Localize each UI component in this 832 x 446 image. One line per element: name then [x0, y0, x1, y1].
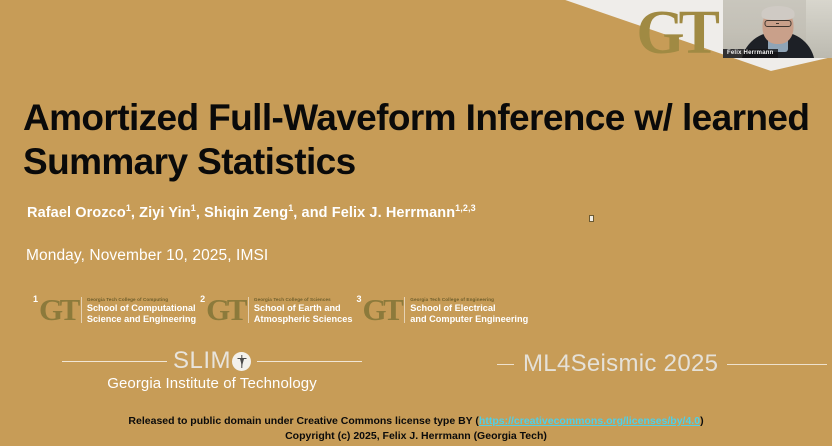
- affiliation-college-2: Georgia Tech College of Sciences: [254, 297, 353, 302]
- affiliation-item-1: 1 GT Georgia Tech College of Computing S…: [33, 294, 200, 325]
- slim-lockup: SLIM Georgia Institute of Technology: [62, 349, 362, 392]
- affiliation-item-3: 3 GT Georgia Tech College of Engineering…: [356, 294, 532, 325]
- webcam-participant-name: Felix Herrmann: [723, 49, 778, 58]
- affiliation-school-line1-2: School of Earth and: [254, 303, 353, 314]
- affiliation-school-line2-3: and Computer Engineering: [410, 314, 528, 325]
- slim-pendulum-icon: [232, 352, 251, 371]
- affiliation-college-1: Georgia Tech College of Computing: [87, 297, 196, 302]
- gt-logo-icon-2: GT: [206, 295, 244, 324]
- ml4seismic-rule-left: [497, 364, 514, 365]
- affiliation-divider-1: [81, 297, 82, 323]
- license-line-1: Released to public domain under Creative…: [0, 414, 832, 429]
- date-venue: Monday, November 10, 2025, IMSI: [26, 247, 268, 265]
- license-text-before: Released to public domain under Creative…: [128, 415, 478, 427]
- webcam-pip-video[interactable]: Felix Herrmann: [723, 0, 832, 58]
- affiliation-logo-row: 1 GT Georgia Tech College of Computing S…: [33, 294, 532, 325]
- affiliation-number-2: 2: [200, 295, 205, 304]
- mouse-cursor: [589, 215, 594, 222]
- license-text-after: ): [700, 415, 704, 427]
- license-footer: Released to public domain under Creative…: [0, 414, 832, 444]
- slim-wordmark-row: SLIM: [62, 349, 362, 373]
- affiliation-school-line1-1: School of Computational: [87, 303, 196, 314]
- affiliation-divider-2: [248, 297, 249, 323]
- author-list: Rafael Orozco1, Ziyi Yin1, Shiqin Zeng1,…: [27, 203, 476, 221]
- gt-logo-icon-3: GT: [362, 295, 400, 324]
- affiliation-text-1: Georgia Tech College of Computing School…: [87, 294, 196, 325]
- affiliation-number-3: 3: [356, 295, 361, 304]
- webcam-person-hair: [761, 6, 794, 20]
- slim-wordmark-text: SLIM: [173, 349, 231, 373]
- webcam-person-glasses: [764, 20, 791, 27]
- slim-subtitle: Georgia Institute of Technology: [62, 375, 362, 392]
- gt-watermark-logo: GT: [636, 2, 714, 64]
- license-url-link[interactable]: https://creativecommons.org/licenses/by/…: [479, 415, 700, 427]
- affiliation-school-line1-3: School of Electrical: [410, 303, 528, 314]
- affiliation-school-line2-1: Science and Engineering: [87, 314, 196, 325]
- affiliation-item-2: 2 GT Georgia Tech College of Sciences Sc…: [200, 294, 356, 325]
- ml4seismic-label: ML4Seismic 2025: [523, 352, 718, 376]
- affiliation-text-3: Georgia Tech College of Engineering Scho…: [410, 294, 528, 325]
- ml4seismic-rule-right: [727, 364, 827, 365]
- slim-rule-left: [62, 361, 167, 362]
- presentation-slide: GT Felix Herrmann Amortized Full-Wavefor…: [0, 0, 832, 446]
- affiliation-number-1: 1: [33, 295, 38, 304]
- gt-logo-icon-1: GT: [39, 295, 77, 324]
- affiliation-college-3: Georgia Tech College of Engineering: [410, 297, 528, 302]
- slim-pendulum-tip: [240, 359, 244, 366]
- affiliation-divider-3: [404, 297, 405, 323]
- affiliation-text-2: Georgia Tech College of Sciences School …: [254, 294, 353, 325]
- slim-rule-right: [257, 361, 362, 362]
- ml4seismic-lockup: ML4Seismic 2025: [497, 352, 827, 376]
- copyright-line: Copyright (c) 2025, Felix J. Herrmann (G…: [0, 429, 832, 444]
- slide-title: Amortized Full-Waveform Inference w/ lea…: [23, 96, 813, 183]
- affiliation-school-line2-2: Atmospheric Sciences: [254, 314, 353, 325]
- slim-wordmark: SLIM: [173, 349, 251, 373]
